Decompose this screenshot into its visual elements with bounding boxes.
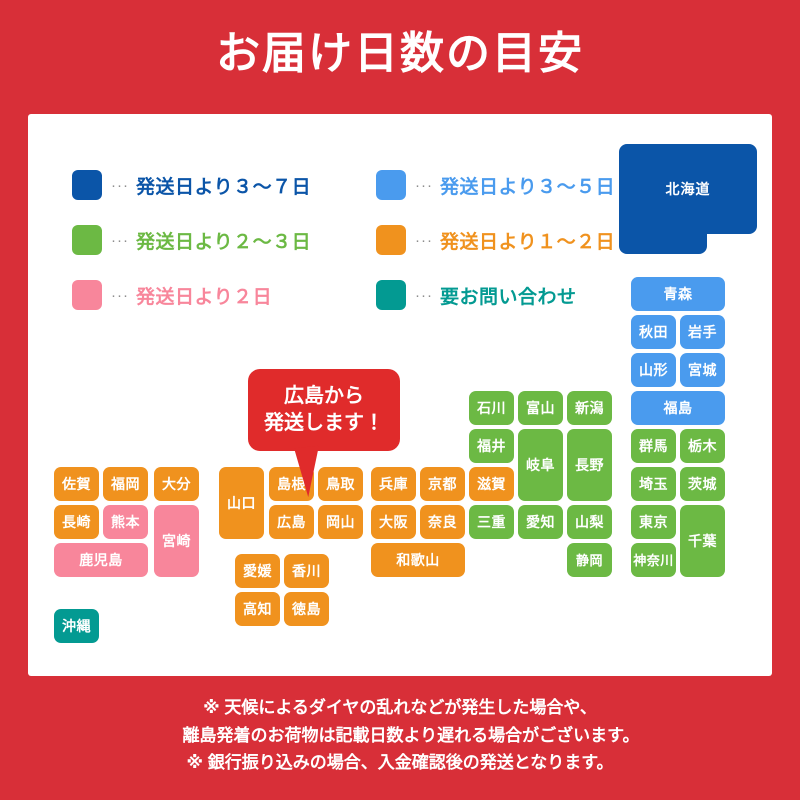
callout-tail xyxy=(294,446,324,498)
pref-label-tottori: 鳥取 xyxy=(326,477,355,491)
pref-label-saga: 佐賀 xyxy=(62,477,91,491)
pref-label-tokyo: 東京 xyxy=(639,515,668,529)
pref-label-nagano: 長野 xyxy=(575,458,604,472)
pref-hyogo[interactable]: 兵庫 xyxy=(371,467,416,501)
pref-label-toyama: 富山 xyxy=(526,401,555,415)
pref-ishikawa[interactable]: 石川 xyxy=(469,391,514,425)
pref-label-wakayama: 和歌山 xyxy=(396,553,440,567)
pref-label-fukui: 福井 xyxy=(477,439,506,453)
pref-label-mie: 三重 xyxy=(477,515,506,529)
pref-okinawa[interactable]: 沖縄 xyxy=(54,609,99,643)
pref-label-nagasaki: 長崎 xyxy=(62,515,91,529)
pref-tochigi[interactable]: 栃木 xyxy=(680,429,725,463)
japan-map: 北海道 青森 秋田 岩手 山形 宮城 福島 石川 富山 新潟 福井 岐阜 長野 … xyxy=(28,114,772,676)
pref-saga[interactable]: 佐賀 xyxy=(54,467,99,501)
pref-akita[interactable]: 秋田 xyxy=(631,315,676,349)
pref-label-yamaguchi: 山口 xyxy=(227,496,256,510)
pref-label-aomori: 青森 xyxy=(664,287,693,301)
footnote-line-3: ※ 銀行振り込みの場合、入金確認後の発送となります。 xyxy=(0,749,800,777)
pref-yamagata[interactable]: 山形 xyxy=(631,353,676,387)
pref-aomori[interactable]: 青森 xyxy=(631,277,725,311)
pref-label-fukushima: 福島 xyxy=(664,401,693,415)
pref-kochi[interactable]: 高知 xyxy=(235,592,280,626)
pref-ehime[interactable]: 愛媛 xyxy=(235,554,280,588)
pref-osaka[interactable]: 大阪 xyxy=(371,505,416,539)
pref-label-fukuoka: 福岡 xyxy=(111,477,140,491)
footnotes: ※ 天候によるダイヤの乱れなどが発生した場合や、 離島発着のお荷物は記載日数より… xyxy=(0,694,800,777)
pref-label-gunma: 群馬 xyxy=(639,439,668,453)
pref-tokushima[interactable]: 徳島 xyxy=(284,592,329,626)
pref-nagano[interactable]: 長野 xyxy=(567,429,612,501)
pref-label-shizuoka: 静岡 xyxy=(576,554,603,567)
pref-label-saitama: 埼玉 xyxy=(639,477,668,491)
pref-okayama[interactable]: 岡山 xyxy=(318,505,363,539)
pref-label-akita: 秋田 xyxy=(639,325,668,339)
pref-fukuoka[interactable]: 福岡 xyxy=(103,467,148,501)
pref-wakayama[interactable]: 和歌山 xyxy=(371,543,465,577)
pref-miyagi[interactable]: 宮城 xyxy=(680,353,725,387)
pref-kumamoto[interactable]: 熊本 xyxy=(103,505,148,539)
pref-tokyo[interactable]: 東京 xyxy=(631,505,676,539)
pref-toyama[interactable]: 富山 xyxy=(518,391,563,425)
pref-label-aichi: 愛知 xyxy=(526,515,555,529)
pref-label-kochi: 高知 xyxy=(243,602,272,616)
pref-label-okinawa: 沖縄 xyxy=(62,619,91,633)
pref-label-kyoto: 京都 xyxy=(428,477,457,491)
pref-gifu[interactable]: 岐阜 xyxy=(518,429,563,501)
pref-label-shiga: 滋賀 xyxy=(477,477,506,491)
footnote-line-1: ※ 天候によるダイヤの乱れなどが発生した場合や、 xyxy=(0,694,800,722)
pref-label-kanagawa: 神奈川 xyxy=(633,554,674,567)
pref-niigata[interactable]: 新潟 xyxy=(567,391,612,425)
pref-label-oita: 大分 xyxy=(162,477,191,491)
pref-label-iwate: 岩手 xyxy=(688,325,717,339)
pref-label-kagoshima: 鹿児島 xyxy=(79,553,123,567)
pref-label-tochigi: 栃木 xyxy=(688,439,717,453)
pref-shiga[interactable]: 滋賀 xyxy=(469,467,514,501)
pref-label-miyagi: 宮城 xyxy=(688,363,717,377)
pref-label-hiroshima: 広島 xyxy=(277,515,306,529)
pref-label-ehime: 愛媛 xyxy=(243,564,272,578)
pref-ibaraki[interactable]: 茨城 xyxy=(680,467,725,501)
pref-fukui[interactable]: 福井 xyxy=(469,429,514,463)
pref-kagawa[interactable]: 香川 xyxy=(284,554,329,588)
pref-label-nara: 奈良 xyxy=(428,515,457,529)
pref-label-kumamoto: 熊本 xyxy=(111,515,140,529)
pref-saitama[interactable]: 埼玉 xyxy=(631,467,676,501)
content-card: ··· 発送日より３〜７日 ··· 発送日より３〜５日 ··· 発送日より２〜３… xyxy=(28,114,772,676)
footnote-line-2: 離島発着のお荷物は記載日数より遅れる場合がございます。 xyxy=(0,722,800,750)
pref-chiba[interactable]: 千葉 xyxy=(680,505,725,577)
pref-oita[interactable]: 大分 xyxy=(154,467,199,501)
pref-miyazaki[interactable]: 宮崎 xyxy=(154,505,199,577)
pref-label-niigata: 新潟 xyxy=(575,401,604,415)
pref-label-tokushima: 徳島 xyxy=(292,602,321,616)
shipping-origin-callout: 広島から 発送します！ xyxy=(248,369,400,451)
pref-yamanashi[interactable]: 山梨 xyxy=(567,505,612,539)
pref-kagoshima[interactable]: 鹿児島 xyxy=(54,543,148,577)
pref-shizuoka[interactable]: 静岡 xyxy=(567,543,612,577)
pref-label-yamanashi: 山梨 xyxy=(575,515,604,529)
pref-tottori[interactable]: 鳥取 xyxy=(318,467,363,501)
pref-mie[interactable]: 三重 xyxy=(469,505,514,539)
infographic-root: お届け日数の目安 ··· 発送日より３〜７日 ··· 発送日より３〜５日 ···… xyxy=(0,0,800,800)
pref-nagasaki[interactable]: 長崎 xyxy=(54,505,99,539)
pref-label-osaka: 大阪 xyxy=(379,515,408,529)
pref-label-kagawa: 香川 xyxy=(292,564,321,578)
pref-label-chiba: 千葉 xyxy=(688,534,717,548)
pref-label-gifu: 岐阜 xyxy=(526,458,555,472)
pref-label-hyogo: 兵庫 xyxy=(379,477,408,491)
pref-yamaguchi[interactable]: 山口 xyxy=(219,467,264,539)
pref-fukushima[interactable]: 福島 xyxy=(631,391,725,425)
pref-aichi[interactable]: 愛知 xyxy=(518,505,563,539)
pref-hiroshima[interactable]: 広島 xyxy=(269,505,314,539)
pref-nara[interactable]: 奈良 xyxy=(420,505,465,539)
pref-label-miyazaki: 宮崎 xyxy=(162,534,191,548)
pref-kanagawa[interactable]: 神奈川 xyxy=(631,543,676,577)
pref-label-ibaraki: 茨城 xyxy=(688,477,717,491)
pref-kyoto[interactable]: 京都 xyxy=(420,467,465,501)
callout-line-1: 広島から xyxy=(284,383,364,410)
pref-label-hokkaido: 北海道 xyxy=(619,144,757,234)
callout-line-2: 発送します！ xyxy=(264,410,384,437)
pref-label-ishikawa: 石川 xyxy=(477,401,506,415)
pref-iwate[interactable]: 岩手 xyxy=(680,315,725,349)
pref-label-okayama: 岡山 xyxy=(326,515,355,529)
page-title: お届け日数の目安 xyxy=(0,28,800,81)
pref-label-yamagata: 山形 xyxy=(639,363,668,377)
pref-gunma[interactable]: 群馬 xyxy=(631,429,676,463)
